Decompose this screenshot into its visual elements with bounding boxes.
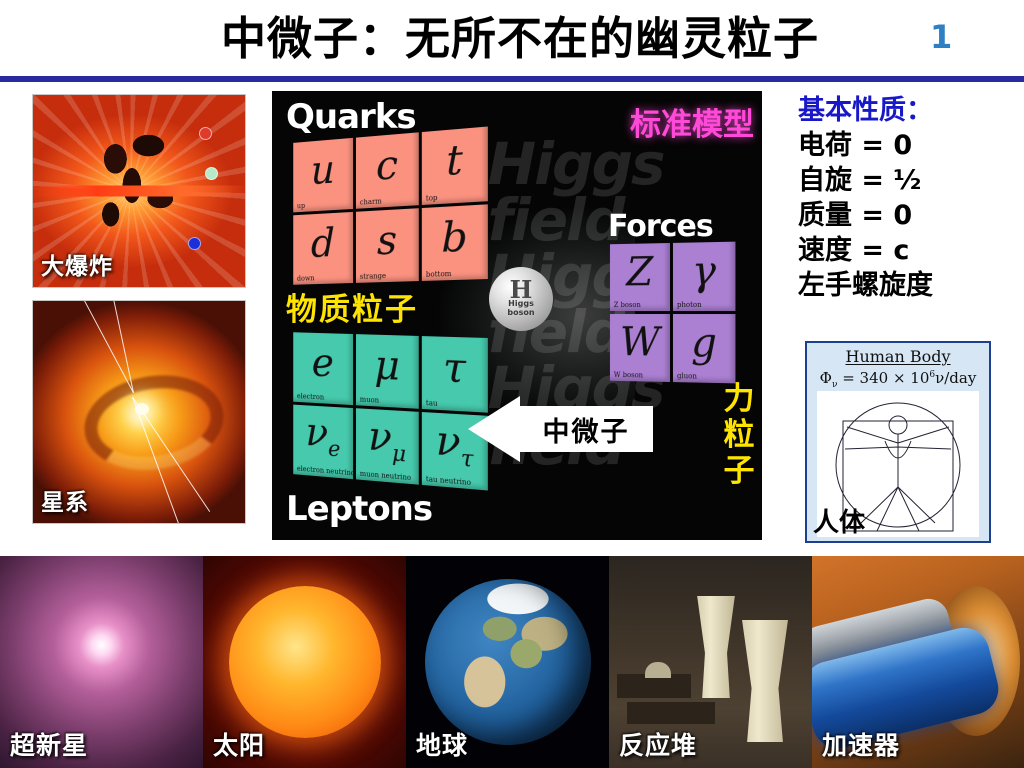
thumbnail-caption-galaxy: 星系 <box>41 483 89 517</box>
thumbnail-big-bang: 大爆炸 <box>32 94 246 288</box>
property-spin: 自旋 = ½ <box>798 163 1024 198</box>
particle-name: tau <box>426 399 438 408</box>
cooling-tower-right <box>737 620 793 742</box>
particle-symbol: τ <box>443 348 466 390</box>
particle-symbol: ν <box>305 410 328 456</box>
quark-grid: u up c charm t top d down s strange b bo… <box>293 126 488 284</box>
particle-name: top <box>426 194 438 203</box>
particle-name: charm <box>360 197 382 206</box>
thumbnail-caption-big-bang: 大爆炸 <box>41 247 113 281</box>
particle-symbol-subscript: e <box>328 436 340 461</box>
neutrino-callout-box: 中微子 <box>519 406 653 452</box>
particle-dot-blue <box>188 237 201 250</box>
particle-symbol: e <box>312 343 334 383</box>
particle-tile-strange: s strange <box>356 208 419 283</box>
particle-name: up <box>297 202 305 210</box>
standard-model-diagram: Higgs field Higgs field Higgs field Quar… <box>272 91 762 540</box>
leptons-heading: Leptons <box>286 489 432 529</box>
particle-symbol: c <box>376 145 398 187</box>
strip-caption-reactor: 反应堆 <box>619 726 697 762</box>
property-speed: 速度 = c <box>798 233 1024 268</box>
particle-tile-down: d down <box>293 212 353 285</box>
strip-image-supernova: 超新星 <box>0 556 203 768</box>
strip-image-reactor: 反应堆 <box>609 556 812 768</box>
strip-caption-sun: 太阳 <box>213 726 265 762</box>
particle-dot-green <box>205 167 218 180</box>
neutrino-callout-label: 中微子 <box>543 410 630 449</box>
particle-name: W boson <box>614 371 643 379</box>
human-body-title: Human Body <box>807 347 989 366</box>
particle-tile-top: t top <box>422 126 488 205</box>
particle-name: muon neutrino <box>360 470 411 482</box>
lepton-grid: e electron μ muon τ tau νe electron neut… <box>293 332 488 490</box>
human-body-formula: Φν = 340 × 106ν/day <box>807 369 989 390</box>
slide-number: 1 <box>930 18 970 56</box>
particle-tile-w-boson: W W boson <box>610 314 670 382</box>
particle-symbol: t <box>446 140 463 182</box>
thumbnail-galaxy: 星系 <box>32 300 246 524</box>
force-grid: Z Z boson γ photon W W boson g gluon <box>610 242 735 384</box>
particle-tile-bottom: b bottom <box>422 204 488 281</box>
particle-symbol: ν <box>368 413 392 460</box>
neutrino-callout-arrow: 中微子 <box>468 396 653 462</box>
strip-caption-supernova: 超新星 <box>10 726 88 762</box>
particle-name: bottom <box>426 270 452 279</box>
particle-name: photon <box>677 301 702 309</box>
page-title: 中微子：无所不在的幽灵粒子 <box>150 8 890 70</box>
strip-image-earth: 地球 <box>406 556 609 768</box>
sun-disk <box>229 586 381 738</box>
particle-tile-up: u up <box>293 138 353 213</box>
reactor-building-b <box>627 702 715 724</box>
particle-symbol: W <box>620 323 660 363</box>
particle-tile-electron: e electron <box>293 332 353 405</box>
particle-name: muon <box>360 396 379 405</box>
higgs-symbol: H <box>510 281 533 299</box>
particle-symbol: b <box>441 217 467 259</box>
particle-symbol: Z <box>626 252 653 292</box>
standard-model-title: 标准模型 <box>630 99 754 144</box>
particle-tile-z-boson: Z Z boson <box>610 243 670 311</box>
header-divider <box>0 76 1024 82</box>
particle-tile-charm: c charm <box>356 132 419 208</box>
big-bang-streak <box>33 186 245 197</box>
cooling-tower-left <box>693 596 739 698</box>
matter-particles-label: 物质粒子 <box>286 284 418 329</box>
higgs-label-line1: Higgs <box>508 299 534 308</box>
human-body-inset: Human Body Φν = 340 × 106ν/day 人体 <box>805 341 991 543</box>
particle-symbol-subscript: μ <box>392 441 406 467</box>
particle-tile-electron-neutrino: νe electron neutrino <box>293 405 353 480</box>
particle-symbol: u <box>311 150 335 191</box>
particle-name: gluon <box>677 372 697 380</box>
particle-name: electron neutrino <box>297 465 355 478</box>
higgs-boson-sphere: H Higgs boson <box>489 267 553 331</box>
particle-name: Z boson <box>614 301 641 309</box>
particle-name: down <box>297 274 315 282</box>
particle-symbol: μ <box>374 346 400 387</box>
property-helicity: 左手螺旋度 <box>798 268 1024 303</box>
particle-tile-photon: γ photon <box>673 242 735 311</box>
particle-symbol: γ <box>692 251 716 292</box>
property-charge: 电荷 = 0 <box>798 128 1024 163</box>
higgs-label-line2: boson <box>507 308 534 317</box>
particle-dot-red <box>199 127 212 140</box>
quarks-heading: Quarks <box>286 97 416 137</box>
particle-tile-gluon: g gluon <box>673 314 735 383</box>
human-body-title-text: Human Body <box>845 347 950 366</box>
particle-name: strange <box>360 272 386 281</box>
earth-globe <box>425 579 591 745</box>
arrow-left-icon <box>468 396 520 462</box>
particle-symbol: ν <box>436 417 461 466</box>
property-mass: 质量 = 0 <box>798 198 1024 233</box>
human-body-caption: 人体 <box>813 502 865 539</box>
strip-caption-earth: 地球 <box>416 726 468 762</box>
galaxy-accretion-disk <box>77 366 230 479</box>
particle-tile-muon: μ muon <box>356 334 419 409</box>
forces-heading: Forces <box>608 209 713 244</box>
strip-caption-accelerator: 加速器 <box>822 726 900 762</box>
particle-symbol: d <box>311 224 335 264</box>
properties-heading: 基本性质： <box>798 94 1024 128</box>
particle-symbol: s <box>377 220 397 261</box>
particle-symbol: g <box>691 323 717 364</box>
particle-name: tau neutrino <box>426 475 471 487</box>
slide-root: 中微子：无所不在的幽灵粒子 1 大爆炸 星系 Higgs field Higgs… <box>0 0 1024 768</box>
slide-header: 中微子：无所不在的幽灵粒子 1 <box>0 0 1024 80</box>
reactor-dome <box>645 662 671 678</box>
strip-image-accelerator: 加速器 <box>812 556 1024 768</box>
particle-tile-muon-neutrino: νμ muon neutrino <box>356 408 419 484</box>
force-particles-label: 力粒子 <box>722 381 756 489</box>
strip-image-sun: 太阳 <box>203 556 406 768</box>
particle-name: electron <box>297 392 324 401</box>
basic-properties-panel: 基本性质： 电荷 = 0 自旋 = ½ 质量 = 0 速度 = c 左手螺旋度 <box>798 94 1024 303</box>
